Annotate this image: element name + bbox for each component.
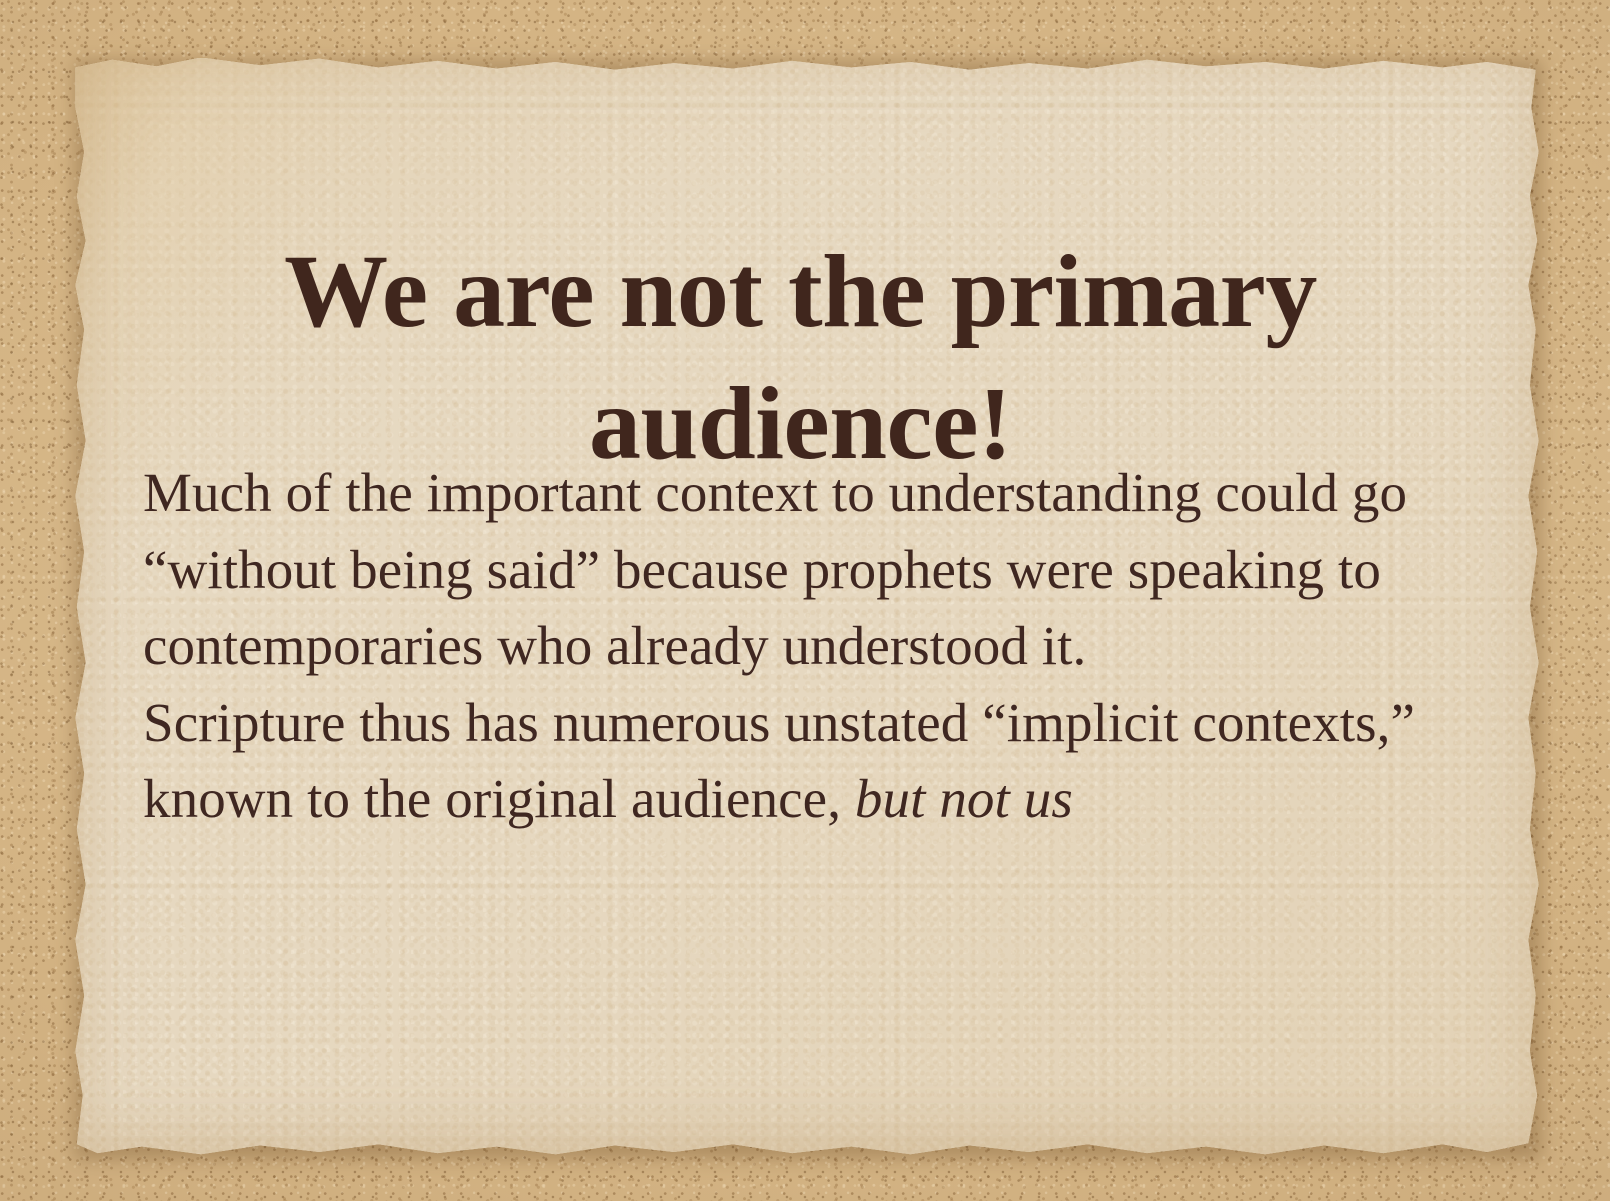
paragraph-implicit-contexts-emphasis: but not us — [855, 768, 1073, 829]
slide-title: We are not the primary audience! — [188, 226, 1413, 490]
paragraph-context: Much of the important context to underst… — [143, 455, 1443, 685]
slide-body: Much of the important context to underst… — [143, 455, 1443, 838]
slide-stage: We are not the primary audience! Much of… — [0, 0, 1610, 1201]
paragraph-implicit-contexts-lead: Scripture thus has numerous unstated “im… — [143, 692, 1415, 830]
slide-content: We are not the primary audience! Much of… — [68, 52, 1546, 1162]
paragraph-implicit-contexts: Scripture thus has numerous unstated “im… — [143, 685, 1443, 838]
paper-sheet: We are not the primary audience! Much of… — [68, 52, 1546, 1162]
